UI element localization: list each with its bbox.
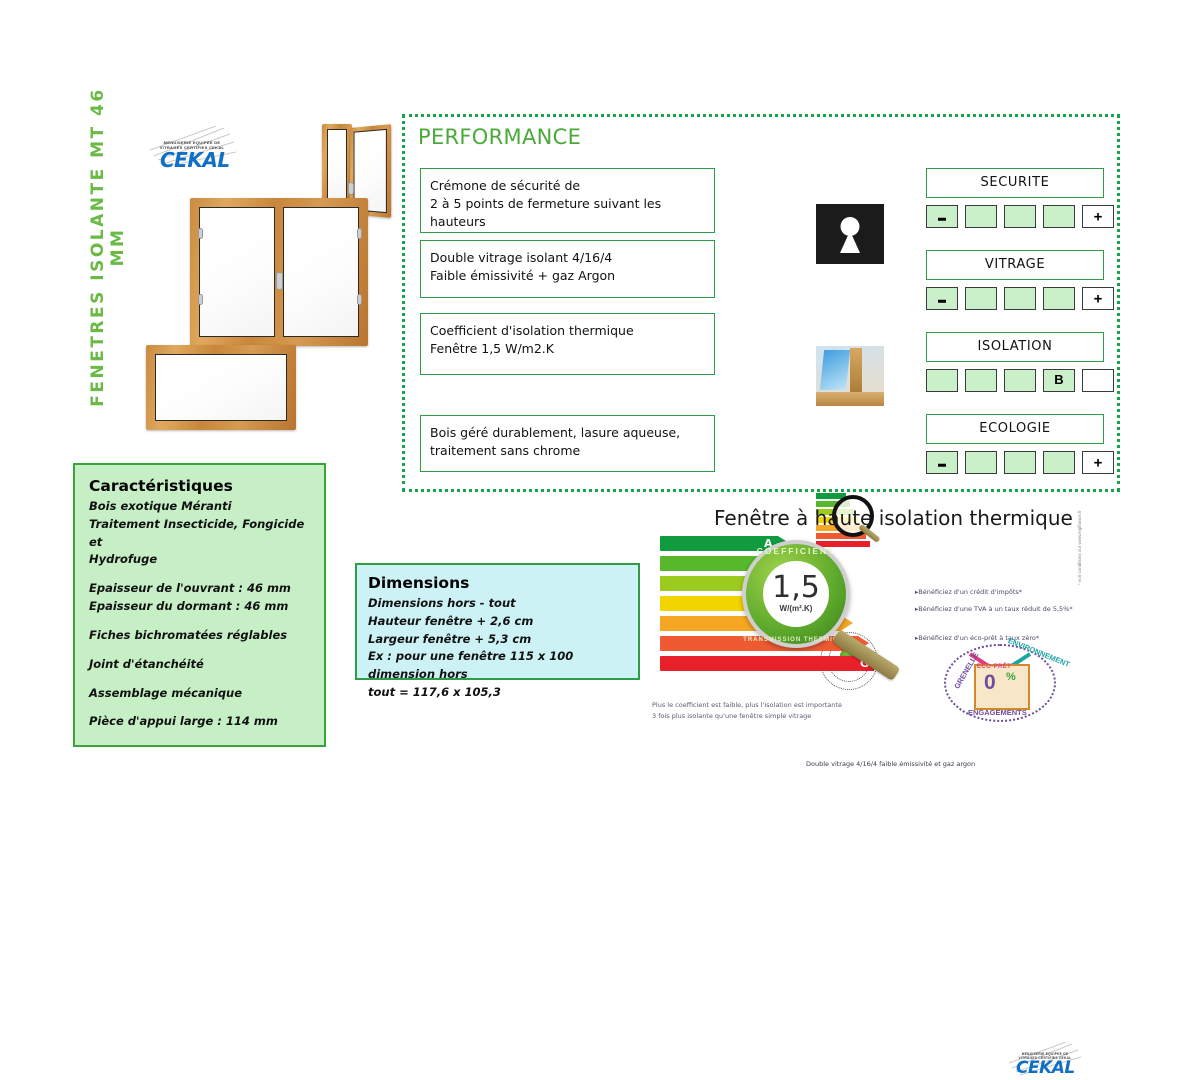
- rating-cells-securite: +: [926, 205, 1114, 228]
- cekal-wordmark: CEKAL: [1016, 1060, 1075, 1077]
- caracteristiques-line: Assemblage mécanique: [89, 685, 310, 703]
- energy-caption: Plus le coefficient est faible, plus l'i…: [652, 700, 902, 723]
- rating-cell[interactable]: +: [1082, 451, 1114, 474]
- dimensions-line: Ex : pour une fenêtre 115 x 100 dimensio…: [368, 648, 627, 684]
- rating-cell[interactable]: [1004, 205, 1036, 228]
- dimensions-title: Dimensions: [368, 574, 627, 592]
- rating-cells-vitrage: +: [926, 287, 1114, 310]
- caracteristiques-line: Bois exotique Méranti: [89, 498, 310, 516]
- rating-cell[interactable]: [926, 451, 958, 474]
- coefficient-unit: W/(m².K): [742, 604, 850, 613]
- cekal-logo-top: MENUISERIE EQUIPEE DE VITRAGES CERTIFIES…: [146, 126, 238, 170]
- benefit-text: Bénéficiez d'une TVA à un taux réduit de…: [918, 605, 1072, 613]
- rating-label-vitrage: VITRAGE: [926, 250, 1104, 280]
- thermal-headline: Fenêtre à haute isolation thermique: [714, 506, 1073, 530]
- rating-cell[interactable]: +: [1082, 205, 1114, 228]
- bottom-glazing-note: Double vitrage 4/16/4 faible émissivité …: [806, 760, 975, 768]
- benefit-item: ▸Bénéficiez d'un crédit d'impôts*: [915, 588, 1022, 596]
- grenelle-word-bottom: ENGAGEMENTS: [968, 708, 1027, 717]
- caracteristiques-box: Caractéristiques Bois exotique MérantiTr…: [73, 463, 326, 747]
- spacer: [89, 645, 310, 656]
- performance-title: PERFORMANCE: [418, 125, 581, 149]
- caracteristiques-line: Epaisseur du dormant : 46 mm: [89, 598, 310, 616]
- grenelle-eco-label: ÉCO-PRÊT: [977, 664, 1011, 670]
- dimensions-line: Hauteur fenêtre + 2,6 cm: [368, 613, 627, 631]
- coefficient-value: 1,5: [742, 570, 850, 605]
- caracteristiques-line: Epaisseur de l'ouvrant : 46 mm: [89, 580, 310, 598]
- magnifier-arc-top: COEFFICIENT: [742, 546, 850, 556]
- performance-box-security: Crémone de sécurité de 2 à 5 points de f…: [420, 168, 715, 233]
- performance-box-glazing: Double vitrage isolant 4/16/4 Faible émi…: [420, 240, 715, 298]
- caracteristiques-line: Pièce d'appui large : 114 mm: [89, 713, 310, 731]
- magnifier-coefficient: COEFFICIENT 1,5 W/(m².K) TRANSMISSION TH…: [742, 540, 850, 648]
- performance-box-insulation: Coefficient d'isolation thermique Fenêtr…: [420, 313, 715, 375]
- caracteristiques-line: Fiches bichromatées réglables: [89, 627, 310, 645]
- rating-cell[interactable]: [1043, 287, 1075, 310]
- dimensions-lines: Dimensions hors - toutHauteur fenêtre + …: [368, 595, 627, 702]
- caracteristiques-line: Traitement Insecticide, Fongicide et: [89, 516, 310, 552]
- rating-cell[interactable]: [926, 287, 958, 310]
- grenelle-zero: 0: [984, 672, 996, 693]
- caracteristiques-line: Joint d'étanchéité: [89, 656, 310, 674]
- grenelle-environnement-logo: ÉCO-PRÊT 0 % GRENELLE ENVIRONNEMENT ENGA…: [944, 644, 1056, 722]
- cekal-logo-bottom: MENUISERIE EQUIPEE DE VITRAGES CERTIFIES…: [1006, 1042, 1084, 1080]
- rating-label-isolation: ISOLATION: [926, 332, 1104, 362]
- rating-cells-ecologie: +: [926, 451, 1114, 474]
- dimensions-box: Dimensions Dimensions hors - toutHauteur…: [355, 563, 640, 680]
- rating-cell[interactable]: [926, 205, 958, 228]
- rating-cell[interactable]: +: [1082, 287, 1114, 310]
- rating-cell[interactable]: [1004, 369, 1036, 392]
- energy-rating-graphic: AFG COEFFICIENT 1,5 W/(m².K) TRANSMISSIO…: [660, 536, 900, 696]
- caracteristiques-line: Hydrofuge: [89, 551, 310, 569]
- rating-grade-letter: B: [1044, 370, 1074, 390]
- window-photo-main: [190, 198, 368, 346]
- benefit-text: Bénéficiez d'un crédit d'impôts*: [918, 588, 1022, 596]
- rating-label-ecologie: ECOLOGIE: [926, 414, 1104, 444]
- caracteristiques-title: Caractéristiques: [89, 477, 310, 495]
- spacer: [89, 674, 310, 685]
- rating-cell[interactable]: [926, 369, 958, 392]
- rating-cell[interactable]: [1004, 451, 1036, 474]
- rating-cell[interactable]: [965, 205, 997, 228]
- spacer: [89, 702, 310, 713]
- legal-side-note: * voir conditions sur www.legifrance.fr: [1077, 495, 1082, 585]
- vertical-product-title: FENETRES ISOLANTE MT 46 MM: [88, 82, 118, 412]
- rating-cell[interactable]: [1004, 287, 1036, 310]
- dimensions-line: Largeur fenêtre + 5,3 cm: [368, 631, 627, 649]
- rating-cell[interactable]: [1082, 369, 1114, 392]
- rating-cell[interactable]: [965, 451, 997, 474]
- rating-cells-isolation: B: [926, 369, 1114, 392]
- window-photo-transom: [146, 345, 296, 430]
- keyhole-icon: [816, 204, 884, 264]
- rating-cell[interactable]: [965, 369, 997, 392]
- performance-box-ecology: Bois géré durablement, lasure aqueuse, t…: [420, 415, 715, 472]
- rating-label-securite: SECURITE: [926, 168, 1104, 198]
- rating-cell[interactable]: [1043, 205, 1075, 228]
- dimensions-line: tout = 117,6 x 105,3: [368, 684, 627, 702]
- cekal-wordmark: CEKAL: [160, 150, 230, 170]
- grenelle-percent: %: [1006, 671, 1016, 683]
- spacer: [89, 569, 310, 580]
- benefit-item: ▸Bénéficiez d'une TVA à un taux réduit d…: [915, 605, 1073, 613]
- rating-cell[interactable]: [965, 287, 997, 310]
- rating-cell[interactable]: [1043, 451, 1075, 474]
- glazing-icon: [816, 346, 884, 406]
- caracteristiques-lines: Bois exotique MérantiTraitement Insectic…: [89, 498, 310, 731]
- spacer: [89, 616, 310, 627]
- rating-cell-grade[interactable]: B: [1043, 369, 1075, 392]
- dimensions-line: Dimensions hors - tout: [368, 595, 627, 613]
